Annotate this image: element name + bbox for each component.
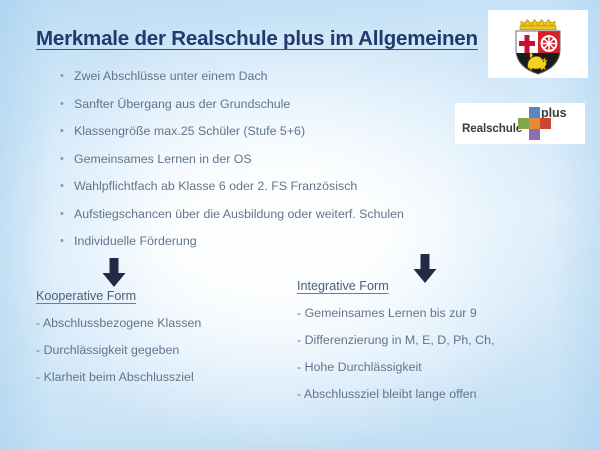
bullet-dot-icon: • xyxy=(60,96,74,112)
bullet-dot-icon: • xyxy=(60,68,74,84)
list-item: • Aufstiegschancen über die Ausbildung o… xyxy=(60,206,480,234)
list-item: - Durchlässigkeit gegeben xyxy=(36,342,286,369)
list-item: • Zwei Abschlüsse unter einem Dach xyxy=(60,68,480,96)
column-kooperative-form: Kooperative Form - Abschlussbezogene Kla… xyxy=(36,289,286,396)
column-heading: Kooperative Form xyxy=(36,289,286,303)
list-item-label: Individuelle Förderung xyxy=(74,233,480,249)
list-item: • Gemeinsames Lernen in der OS xyxy=(60,151,480,179)
logo-square-red xyxy=(540,118,551,129)
list-item: - Abschlussziel bleibt lange offen xyxy=(297,386,587,413)
column-integrative-form: Integrative Form - Gemeinsames Lernen bi… xyxy=(297,279,587,413)
realschule-plus-logo: Realschule plus xyxy=(455,103,585,144)
logo-pinwheel-icon xyxy=(518,107,552,139)
logo-square-green xyxy=(518,118,529,129)
bullet-dot-icon: • xyxy=(60,151,74,167)
logo-square-purple xyxy=(529,129,540,140)
list-item-label: Zwei Abschlüsse unter einem Dach xyxy=(74,68,480,84)
column-heading: Integrative Form xyxy=(297,279,587,293)
list-item: - Differenzierung in M, E, D, Ph, Ch, xyxy=(297,332,587,359)
list-item: - Klarheit beim Abschlussziel xyxy=(36,369,286,396)
down-arrow-icon xyxy=(101,258,127,288)
bullet-dot-icon: • xyxy=(60,206,74,222)
logo-square-orange xyxy=(529,118,540,129)
column-item-list: - Gemeinsames Lernen bis zur 9 - Differe… xyxy=(297,305,587,413)
list-item: - Hohe Durchlässigkeit xyxy=(297,359,587,386)
list-item-label: Sanfter Übergang aus der Grundschule xyxy=(74,96,480,112)
bullet-dot-icon: • xyxy=(60,233,74,249)
list-item-label: Klassengröße max.25 Schüler (Stufe 5+6) xyxy=(74,123,480,139)
logo-square-blue xyxy=(529,107,540,118)
list-item: - Gemeinsames Lernen bis zur 9 xyxy=(297,305,587,332)
slide-canvas: Merkmale der Realschule plus im Allgemei… xyxy=(0,0,600,450)
bullet-dot-icon: • xyxy=(60,123,74,139)
list-item: • Klassengröße max.25 Schüler (Stufe 5+6… xyxy=(60,123,480,151)
list-item-label: Wahlpflichtfach ab Klasse 6 oder 2. FS F… xyxy=(74,178,480,194)
list-item-label: Gemeinsames Lernen in der OS xyxy=(74,151,480,167)
list-item: • Wahlpflichtfach ab Klasse 6 oder 2. FS… xyxy=(60,178,480,206)
bullet-list: • Zwei Abschlüsse unter einem Dach • San… xyxy=(60,68,480,261)
bullet-dot-icon: • xyxy=(60,178,74,194)
column-item-list: - Abschlussbezogene Klassen - Durchlässi… xyxy=(36,315,286,396)
list-item: - Abschlussbezogene Klassen xyxy=(36,315,286,342)
list-item: • Sanfter Übergang aus der Grundschule xyxy=(60,96,480,124)
logo-wordmark: Realschule xyxy=(462,122,522,135)
coat-of-arms-image xyxy=(488,10,588,78)
list-item-label: Aufstiegschancen über die Ausbildung ode… xyxy=(74,206,480,222)
page-title: Merkmale der Realschule plus im Allgemei… xyxy=(36,27,466,51)
